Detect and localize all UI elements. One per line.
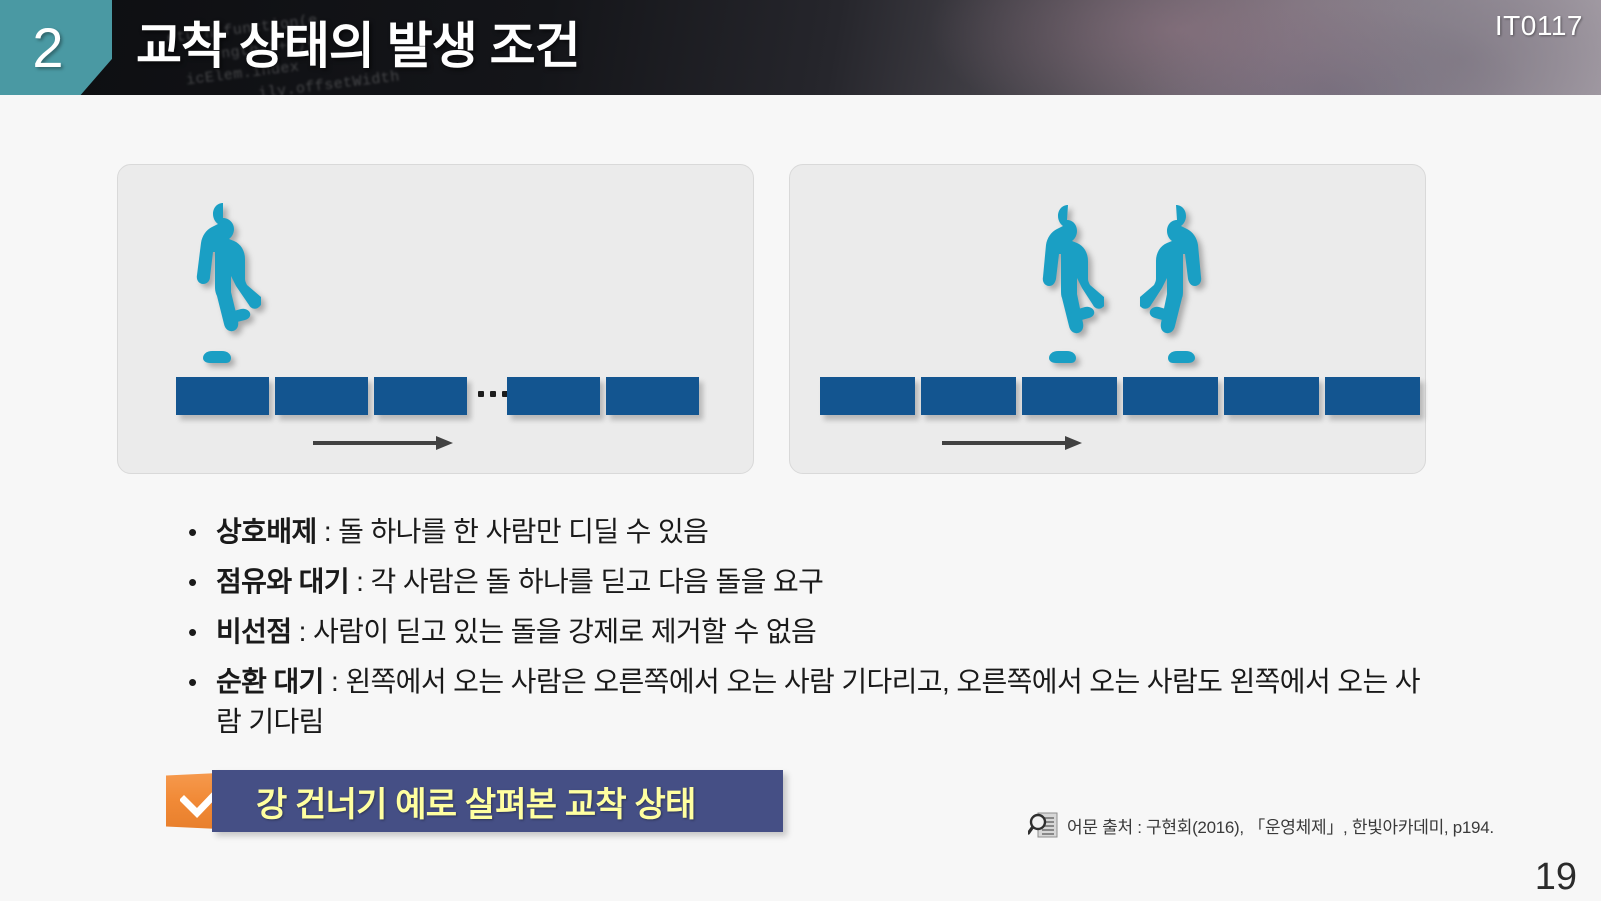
diagram-panel-left	[117, 164, 754, 474]
stones-ellipsis	[478, 391, 508, 397]
bullet-marker: •	[182, 512, 216, 552]
stepping-stone	[820, 377, 915, 415]
direction-arrow	[313, 436, 453, 450]
person-silhouette-left-facing-right	[1042, 203, 1104, 373]
bullet-marker: •	[182, 662, 216, 702]
stepping-stone	[1123, 377, 1218, 415]
list-item-description: : 각 사람은 돌 하나를 딛고 다음 돌을 요구	[349, 566, 823, 597]
source-citation: 어문 출처 : 구현회(2016), 「운영체제」, 한빛아카데미, p194.	[1028, 812, 1494, 838]
banner-text: 강 건너기 예로 살펴본 교착 상태	[256, 777, 695, 826]
list-item-term: 상호배제	[216, 516, 317, 547]
list-item-term: 점유와 대기	[216, 566, 349, 597]
stepping-stone	[1224, 377, 1319, 415]
slide-header: eturn function(e, ngth;i++){ icElem.inde…	[0, 0, 1601, 95]
banner-box: 강 건너기 예로 살펴본 교착 상태	[212, 770, 783, 832]
stepping-stone	[176, 377, 269, 415]
list-item-description: : 왼쪽에서 오는 사람은 오른쪽에서 오는 사람 기다리고, 오른쪽에서 오는…	[216, 666, 1420, 737]
bullet-marker: •	[182, 612, 216, 652]
stepping-stone	[606, 377, 699, 415]
person-silhouette-right-facing-left	[1140, 203, 1202, 373]
direction-arrow	[942, 436, 1082, 450]
source-text: 어문 출처 : 구현회(2016), 「운영체제」, 한빛아카데미, p194.	[1067, 813, 1494, 838]
diagram-panel-right	[789, 164, 1426, 474]
stepping-stone	[275, 377, 368, 415]
stepping-stone	[1325, 377, 1420, 415]
list-item: • 상호배제 : 돌 하나를 한 사람만 디딜 수 있음	[182, 512, 1442, 552]
list-item-description: : 돌 하나를 한 사람만 디딜 수 있음	[317, 516, 709, 547]
page-number: 19	[1535, 856, 1577, 899]
person-silhouette	[195, 201, 261, 373]
list-item: • 비선점 : 사람이 딛고 있는 돌을 강제로 제거할 수 없음	[182, 612, 1442, 652]
stepping-stone	[507, 377, 600, 415]
magnifier-document-icon	[1028, 812, 1058, 838]
stepping-stone	[1022, 377, 1117, 415]
list-item-term: 비선점	[216, 616, 291, 647]
list-item-text: 순환 대기 : 왼쪽에서 오는 사람은 오른쪽에서 오는 사람 기다리고, 오른…	[216, 662, 1431, 742]
condition-list: • 상호배제 : 돌 하나를 한 사람만 디딜 수 있음 • 점유와 대기 : …	[182, 512, 1442, 752]
stepping-stone	[921, 377, 1016, 415]
list-item: • 점유와 대기 : 각 사람은 돌 하나를 딛고 다음 돌을 요구	[182, 562, 1442, 602]
course-code-label: IT0117	[1495, 10, 1583, 42]
bullet-marker: •	[182, 562, 216, 602]
list-item-term: 순환 대기	[216, 666, 324, 697]
list-item-text: 비선점 : 사람이 딛고 있는 돌을 강제로 제거할 수 없음	[216, 612, 816, 652]
list-item-text: 상호배제 : 돌 하나를 한 사람만 디딜 수 있음	[216, 512, 708, 552]
page-title: 교착 상태의 발생 조건	[136, 6, 580, 78]
list-item: • 순환 대기 : 왼쪽에서 오는 사람은 오른쪽에서 오는 사람 기다리고, …	[182, 662, 1442, 742]
stepping-stone	[374, 377, 467, 415]
list-item-description: : 사람이 딛고 있는 돌을 강제로 제거할 수 없음	[291, 616, 816, 647]
list-item-text: 점유와 대기 : 각 사람은 돌 하나를 딛고 다음 돌을 요구	[216, 562, 823, 602]
